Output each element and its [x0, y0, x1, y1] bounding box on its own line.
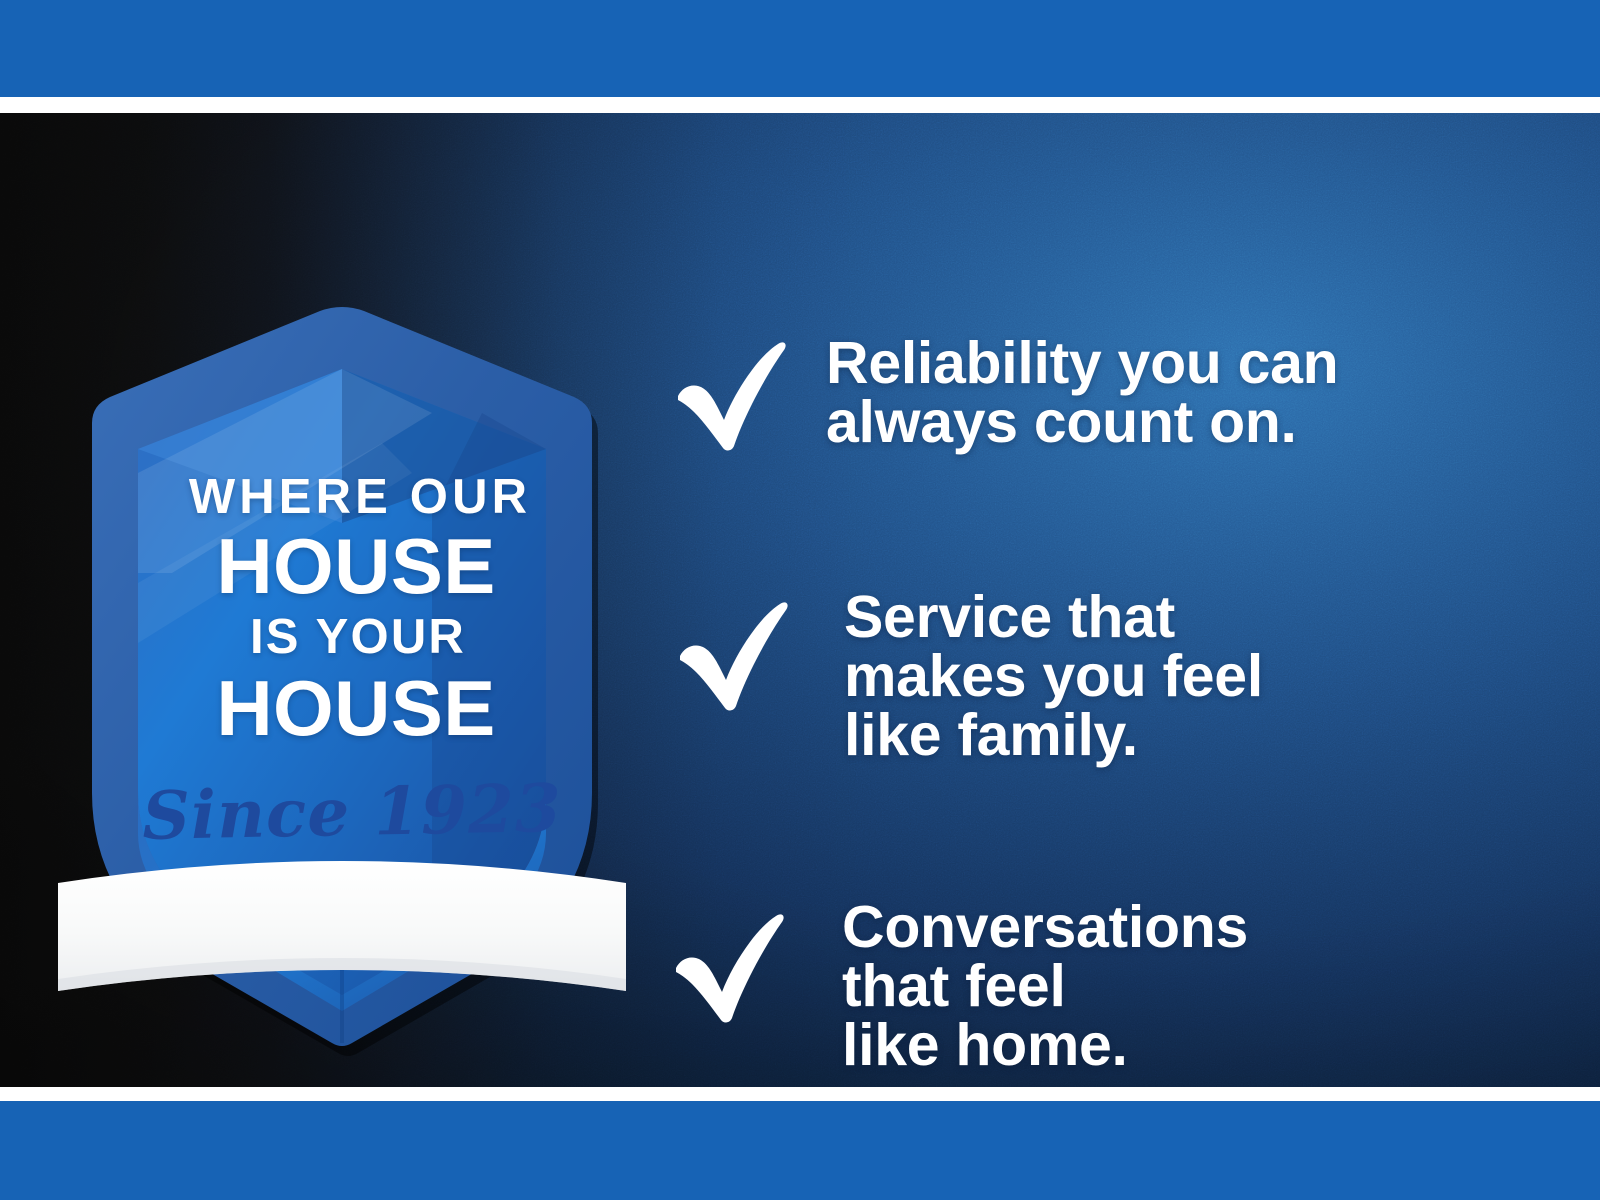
list-item: Service that makes you feel like family. [670, 588, 1263, 765]
list-item-label: Conversations that feel like home. [842, 898, 1248, 1075]
list-item-label: Reliability you can always count on. [826, 334, 1338, 452]
company-badge: Where Our House Is Your House Since 1923 [52, 273, 632, 1063]
value-proposition-list: Reliability you can always count on. Ser… [660, 226, 1540, 1087]
badge-line-where-our: Where Our [52, 473, 650, 522]
check-icon [670, 598, 792, 714]
badge-line-is-your: Is Your [52, 613, 648, 662]
check-icon [668, 338, 790, 454]
bottom-brand-bar [0, 1101, 1600, 1200]
badge-line-house-1: House [52, 527, 646, 605]
promo-graphic: Where Our House Is Your House Since 1923… [0, 0, 1600, 1200]
check-icon [666, 910, 788, 1026]
badge-since-text: Since 1923 [51, 767, 642, 856]
list-item-label: Service that makes you feel like family. [844, 588, 1263, 765]
bottom-divider [0, 1087, 1600, 1101]
list-item: Conversations that feel like home. [666, 898, 1248, 1075]
list-item: Reliability you can always count on. [668, 332, 1338, 454]
main-panel: Where Our House Is Your House Since 1923… [0, 113, 1600, 1087]
top-divider [0, 97, 1600, 113]
top-brand-bar [0, 0, 1600, 97]
badge-line-house-2: House [52, 669, 646, 747]
